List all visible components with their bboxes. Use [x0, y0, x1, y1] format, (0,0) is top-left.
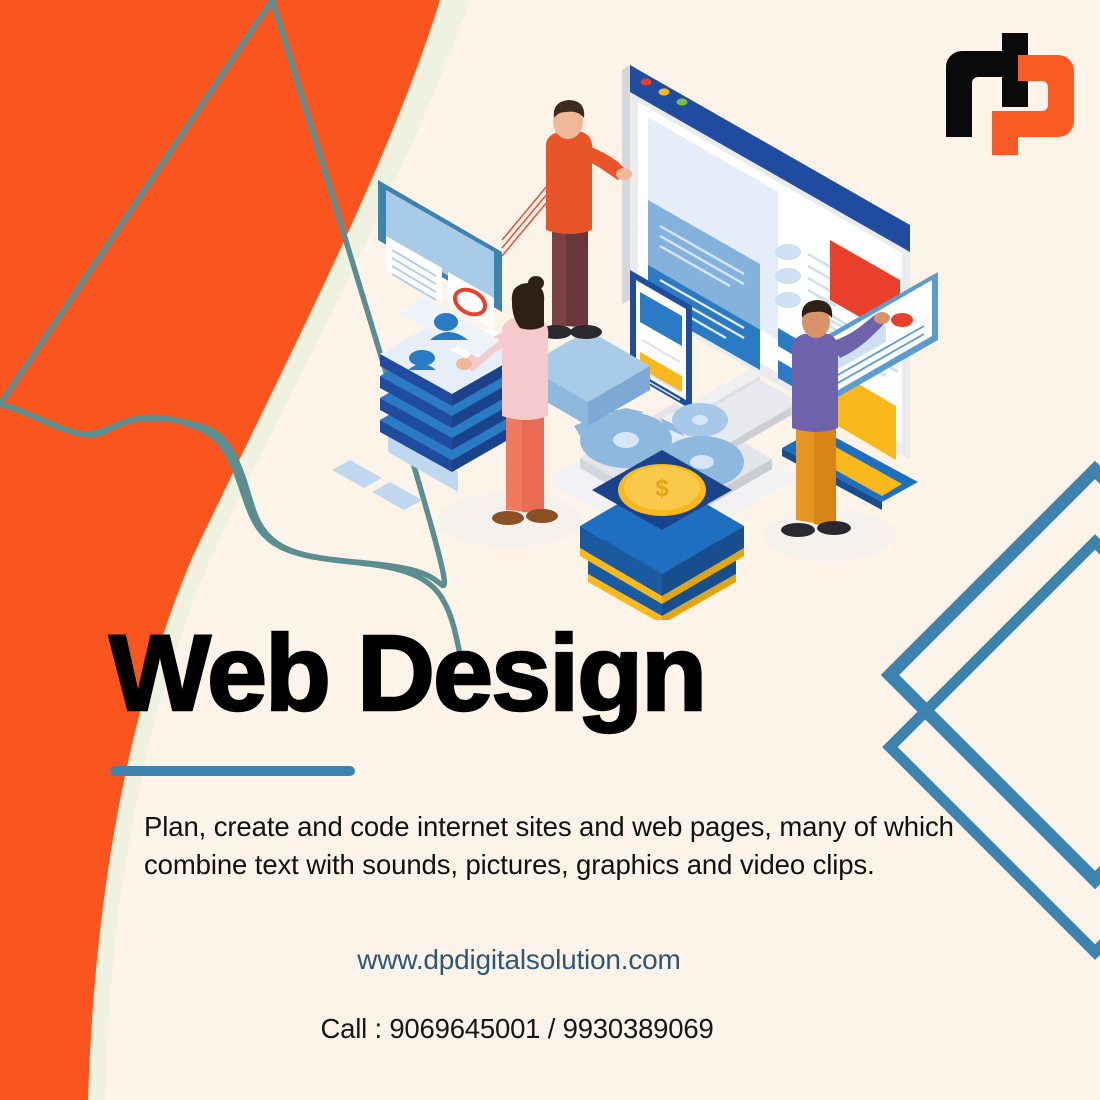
dp-digital-solution-logo — [942, 33, 1078, 155]
description-text: Plan, create and code internet sites and… — [144, 808, 954, 884]
character-man-orange-shirt — [540, 100, 632, 339]
isometric-web-design-illustration: $ — [330, 40, 950, 620]
page-title: Web Design — [109, 619, 705, 727]
title-divider-rule — [110, 766, 355, 776]
poster-canvas: $ — [0, 0, 1100, 1100]
website-link[interactable]: www.dpdigitalsolution.com — [0, 944, 1069, 976]
phone-numbers: Call : 9069645001 / 9930389069 — [0, 1013, 1067, 1045]
svg-text:$: $ — [655, 475, 669, 502]
